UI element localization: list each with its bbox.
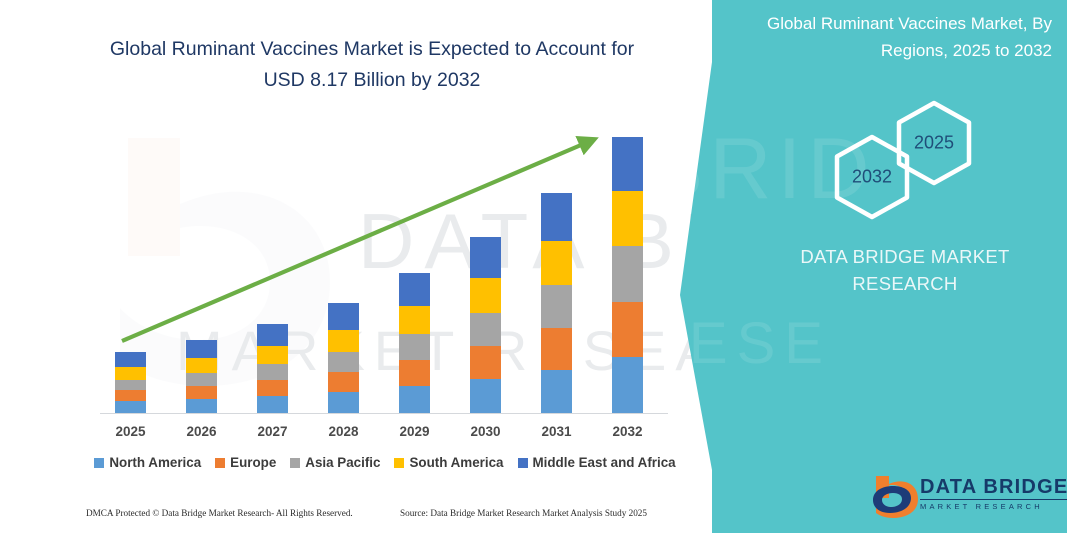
legend-swatch-middle-east-and-africa [518,458,528,468]
bar-2027 [257,324,288,413]
bar-segment-north-america-2028 [328,392,359,413]
bar-segment-middle-east-and-africa-2025 [115,352,146,367]
bar-segment-europe-2030 [470,346,501,379]
legend-item-south-america[interactable]: South America [394,455,503,470]
x-axis-label-2032: 2032 [598,424,658,439]
bar-2025 [115,352,146,413]
bar-2028 [328,303,359,413]
legend-item-middle-east-and-africa[interactable]: Middle East and Africa [518,455,676,470]
bar-segment-europe-2029 [399,360,430,386]
bar-segment-north-america-2030 [470,379,501,413]
legend-swatch-south-america [394,458,404,468]
bar-segment-europe-2032 [612,302,643,357]
x-axis-label-2031: 2031 [527,424,587,439]
bar-segment-north-america-2026 [186,399,217,413]
infographic-canvas: DATA BRIDGE MARKET RESEARCH Global Rumin… [0,0,1067,533]
bar-segment-north-america-2025 [115,401,146,413]
bar-segment-middle-east-and-africa-2031 [541,193,572,241]
brand-name: DATA BRIDGE MARKET RESEARCH [760,243,1050,297]
bar-segment-south-america-2032 [612,191,643,246]
bar-segment-north-america-2032 [612,357,643,413]
legend-label-north-america: North America [109,455,201,470]
bar-segment-south-america-2031 [541,241,572,285]
panel-title: Global Ruminant Vaccines Market, By Regi… [722,10,1052,64]
legend-swatch-north-america [94,458,104,468]
bar-segment-middle-east-and-africa-2030 [470,237,501,278]
bar-segment-south-america-2026 [186,358,217,373]
bar-segment-south-america-2028 [328,330,359,352]
chart-plot-area: 20252026202720282029203020312032 [0,0,700,533]
bar-segment-europe-2028 [328,372,359,392]
bridge-logo-icon [872,474,918,518]
bar-segment-europe-2025 [115,390,146,401]
brand-logo-text: DATA BRIDGE MARKET RESEARCH [920,476,1067,512]
brand-logo-rule [920,499,1067,500]
bar-segment-south-america-2025 [115,367,146,380]
legend-label-asia-pacific: Asia Pacific [305,455,380,470]
bar-segment-middle-east-and-africa-2026 [186,340,217,358]
bar-segment-north-america-2027 [257,396,288,413]
bar-segment-south-america-2030 [470,278,501,313]
bar-segment-asia-pacific-2030 [470,313,501,346]
legend-swatch-asia-pacific [290,458,300,468]
bar-2026 [186,340,217,413]
x-axis-label-2025: 2025 [101,424,161,439]
bar-2031 [541,193,572,413]
footer-copyright: DMCA Protected © Data Bridge Market Rese… [86,508,353,518]
bar-segment-asia-pacific-2027 [257,364,288,380]
bar-segment-middle-east-and-africa-2032 [612,137,643,191]
brand-logo: DATA BRIDGE MARKET RESEARCH [872,474,1052,520]
x-axis-line [100,413,668,414]
hexagon-badge-2025: 2025 [895,100,973,186]
legend-item-north-america[interactable]: North America [94,455,201,470]
hexagon-label-2025: 2025 [895,133,973,154]
footer-source: Source: Data Bridge Market Research Mark… [400,508,647,518]
x-axis-label-2026: 2026 [172,424,232,439]
bar-segment-asia-pacific-2025 [115,380,146,390]
bar-segment-north-america-2029 [399,386,430,413]
bar-segment-europe-2031 [541,328,572,370]
bar-segment-asia-pacific-2031 [541,285,572,328]
chart-legend: North AmericaEuropeAsia PacificSouth Ame… [100,455,670,470]
bar-segment-asia-pacific-2032 [612,246,643,302]
legend-swatch-europe [215,458,225,468]
bar-segment-europe-2026 [186,386,217,399]
x-axis-label-2029: 2029 [385,424,445,439]
x-axis-label-2027: 2027 [243,424,303,439]
legend-label-south-america: South America [409,455,503,470]
bar-segment-middle-east-and-africa-2028 [328,303,359,330]
bar-2030 [470,237,501,413]
bar-segment-asia-pacific-2026 [186,373,217,386]
legend-label-europe: Europe [230,455,276,470]
x-axis-label-2030: 2030 [456,424,516,439]
bar-segment-south-america-2027 [257,346,288,364]
bar-2032 [612,137,643,413]
legend-label-middle-east-and-africa: Middle East and Africa [533,455,676,470]
bar-segment-asia-pacific-2028 [328,352,359,372]
bar-2029 [399,273,430,413]
x-axis-label-2028: 2028 [314,424,374,439]
bar-segment-north-america-2031 [541,370,572,413]
legend-item-europe[interactable]: Europe [215,455,276,470]
bar-segment-europe-2027 [257,380,288,396]
legend-item-asia-pacific[interactable]: Asia Pacific [290,455,380,470]
bar-segment-middle-east-and-africa-2029 [399,273,430,306]
bar-segment-asia-pacific-2029 [399,334,430,360]
brand-logo-line1: DATA BRIDGE [920,476,1067,498]
brand-logo-line2: MARKET RESEARCH [920,502,1067,512]
bar-segment-south-america-2029 [399,306,430,334]
bar-segment-middle-east-and-africa-2027 [257,324,288,346]
